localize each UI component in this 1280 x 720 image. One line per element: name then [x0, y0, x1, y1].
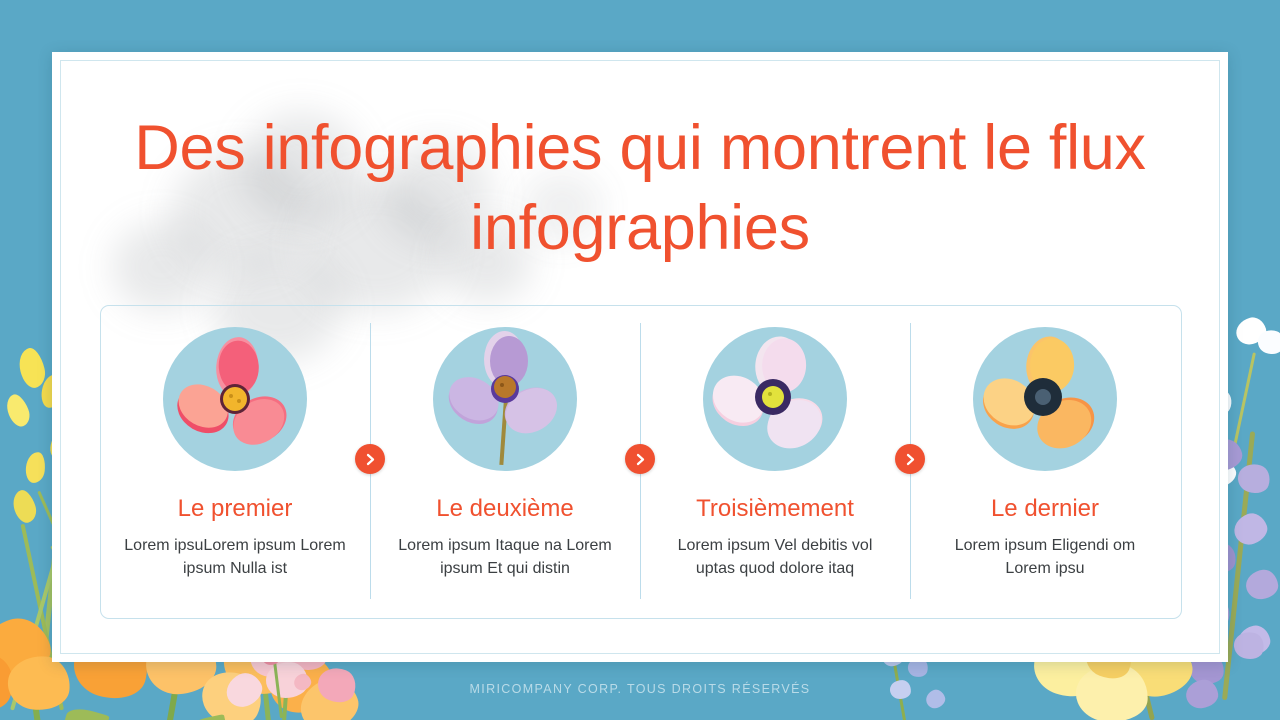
column-title: Le premier [178, 495, 293, 523]
infographic-column-3[interactable]: Troisièmement Lorem ipsum Vel debitis vo… [640, 305, 910, 617]
flower-image-1 [163, 327, 307, 471]
pink-cosmos-flower-icon [163, 327, 307, 471]
column-description: Lorem ipsuLorem ipsum Lorem ipsum Nulla … [120, 534, 350, 580]
arrow-connector-1[interactable] [355, 444, 385, 474]
page-title-line-2: infographies [60, 188, 1220, 268]
column-title: Le dernier [991, 495, 1099, 523]
pale-pink-anemone-flower-icon [703, 327, 847, 471]
infographic-column-1[interactable]: Le premier Lorem ipsuLorem ipsum Lorem i… [100, 305, 370, 617]
infographic-column-2[interactable]: Le deuxième Lorem ipsum Itaque na Lorem … [370, 305, 640, 617]
flower-image-3 [703, 327, 847, 471]
page-title: Des infographies qui montrent le flux in… [60, 108, 1220, 268]
flower-image-4 [973, 327, 1117, 471]
column-description: Lorem ipsum Itaque na Lorem ipsum Et qui… [390, 534, 620, 580]
column-title: Troisièmement [696, 495, 854, 523]
arrow-connector-2[interactable] [625, 444, 655, 474]
column-description: Lorem ipsum Vel debitis vol uptas quod d… [660, 534, 890, 580]
chevron-right-icon [904, 453, 917, 466]
column-title: Le deuxième [436, 495, 573, 523]
flower-image-2 [433, 327, 577, 471]
chevron-right-icon [634, 453, 647, 466]
purple-cosmos-flower-icon [433, 327, 577, 471]
chevron-right-icon [364, 453, 377, 466]
slide-stage: Des infographies qui montrent le flux in… [0, 0, 1280, 720]
footer-copyright: MIRICOMPANY CORP. TOUS DROITS RÉSERVÉS [0, 682, 1280, 696]
orange-anemone-flower-icon [973, 327, 1117, 471]
column-description: Lorem ipsum Eligendi om Lorem ipsu [930, 534, 1160, 580]
infographic-column-4[interactable]: Le dernier Lorem ipsum Eligendi om Lorem… [910, 305, 1180, 617]
page-title-line-1: Des infographies qui montrent le flux [60, 108, 1220, 188]
arrow-connector-3[interactable] [895, 444, 925, 474]
